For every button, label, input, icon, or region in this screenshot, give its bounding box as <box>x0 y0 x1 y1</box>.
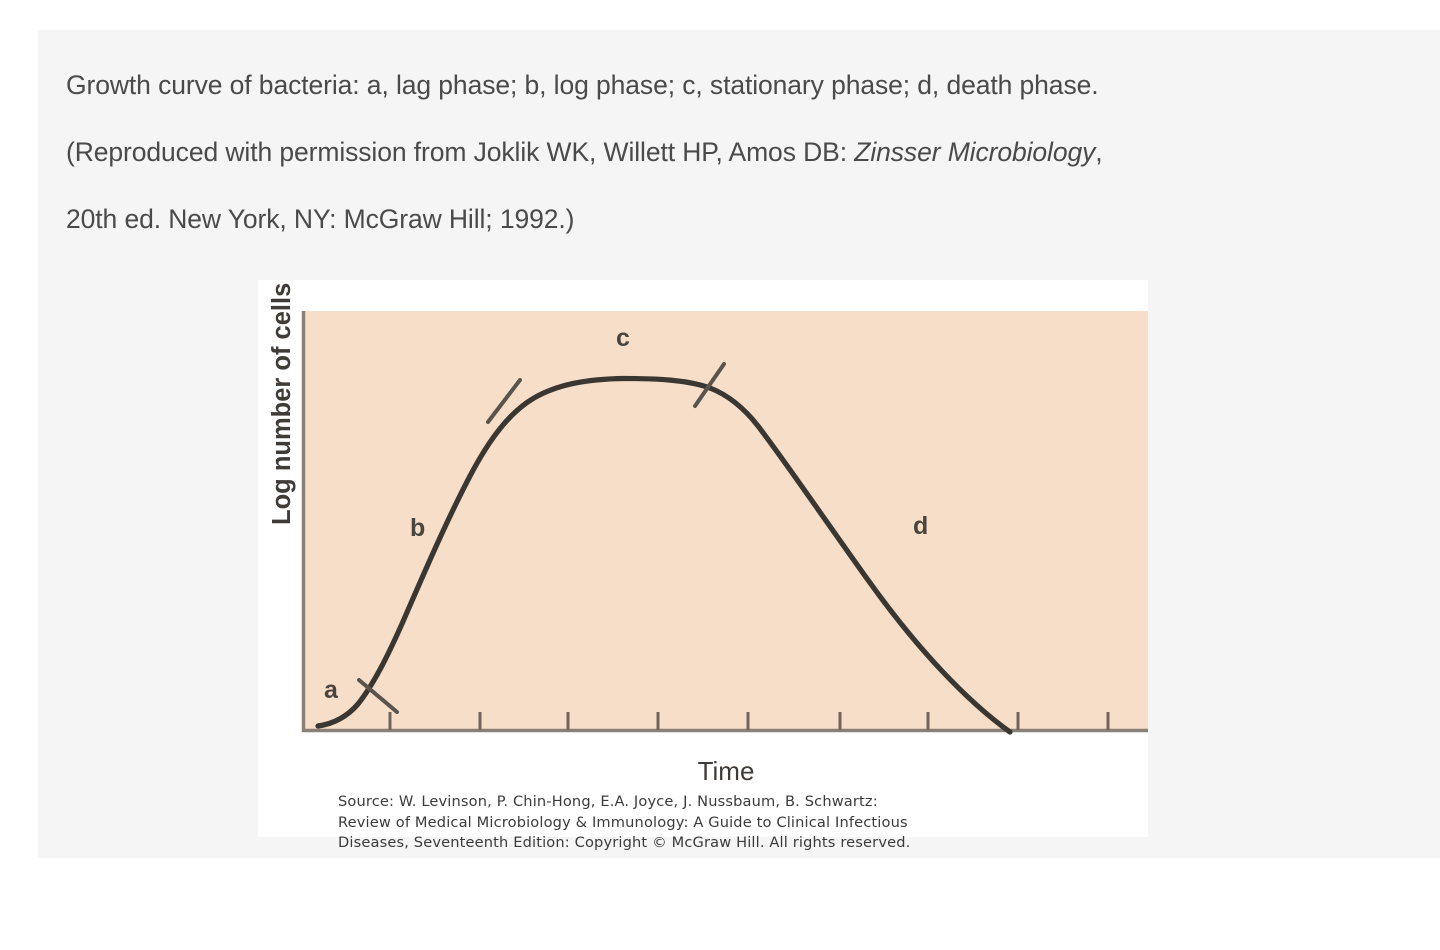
phase-label-b: b <box>410 514 425 542</box>
caption-source-title: Zinsser Microbiology <box>854 137 1095 167</box>
growth-curve-chart: a b c d Log number of cells Time <box>258 280 1148 837</box>
source-attribution: Source: W. Levinson, P. Chin-Hong, E.A. … <box>338 792 1128 854</box>
plot-area-background <box>302 311 1148 732</box>
phase-label-a: a <box>324 676 339 704</box>
source-line-3: Diseases, Seventeenth Edition: Copyright… <box>338 833 1128 854</box>
caption-line-2-prefix: (Reproduced with permission from Joklik … <box>66 137 854 167</box>
source-line-2: Review of Medical Microbiology & Immunol… <box>338 813 1128 834</box>
caption-line-1: Growth curve of bacteria: a, lag phase; … <box>66 52 1386 119</box>
phase-label-c: c <box>616 324 630 352</box>
figure-caption: Growth curve of bacteria: a, lag phase; … <box>66 52 1386 253</box>
phase-label-d: d <box>913 512 928 540</box>
source-line-1: Source: W. Levinson, P. Chin-Hong, E.A. … <box>338 792 1128 813</box>
x-axis-label: Time <box>698 756 755 786</box>
page-root: Growth curve of bacteria: a, lag phase; … <box>0 0 1440 950</box>
content-card: Growth curve of bacteria: a, lag phase; … <box>38 30 1440 858</box>
caption-line-2: (Reproduced with permission from Joklik … <box>66 119 1386 186</box>
caption-line-2-suffix: , <box>1095 137 1102 167</box>
y-axis-label: Log number of cells <box>268 283 296 525</box>
figure-image: a b c d Log number of cells Time Source:… <box>258 280 1148 837</box>
caption-line-3: 20th ed. New York, NY: McGraw Hill; 1992… <box>66 186 1386 253</box>
